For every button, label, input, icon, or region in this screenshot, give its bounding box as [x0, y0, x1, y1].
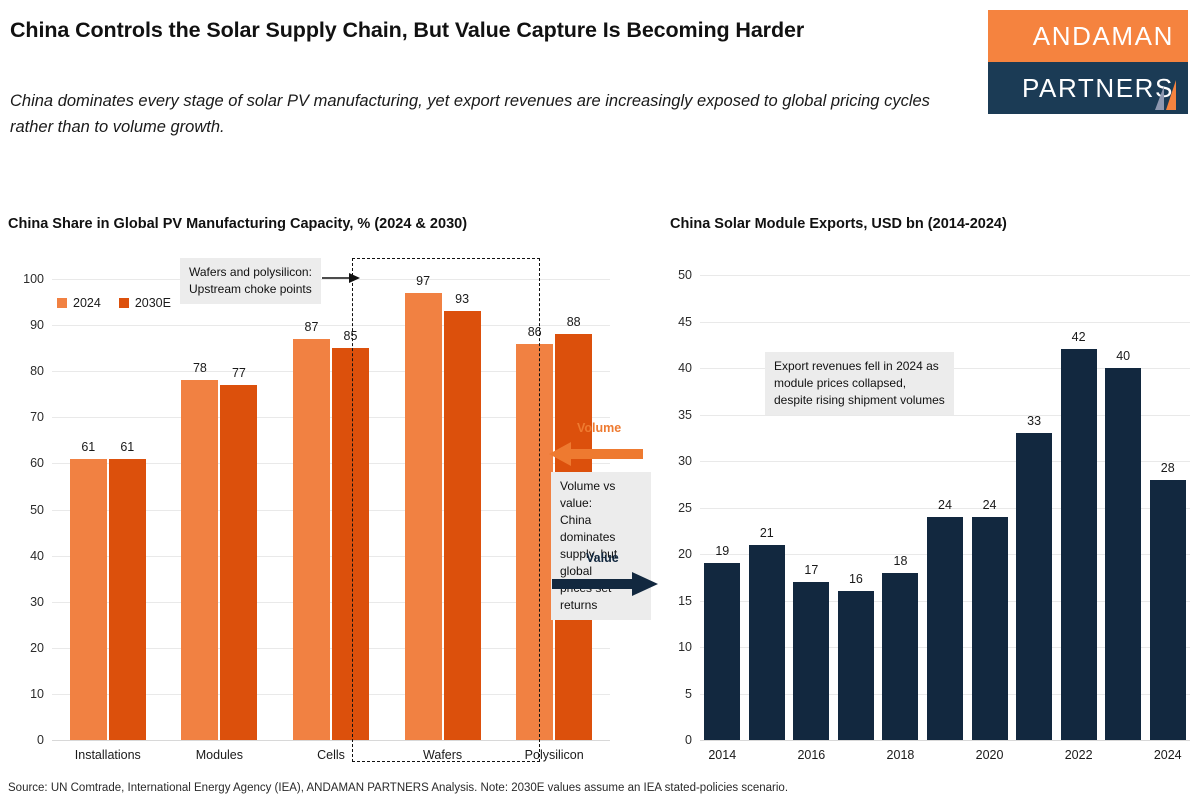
arrow-to-wafers-icon	[322, 272, 360, 284]
bar[interactable]	[220, 385, 257, 740]
bar[interactable]	[838, 591, 874, 740]
andaman-partners-logo: ANDAMAN PARTNERS	[988, 10, 1188, 114]
bar[interactable]	[793, 582, 829, 740]
volume-arrow-group: Volume	[549, 421, 643, 467]
bar-value-label: 28	[1161, 461, 1175, 475]
bar-value-label: 17	[804, 563, 818, 577]
callout-wafers-polysilicon: Wafers and polysilicon: Upstream choke p…	[180, 258, 321, 304]
y-axis-tick: 50	[30, 503, 44, 517]
slide-canvas: China Controls the Solar Supply Chain, B…	[0, 0, 1200, 800]
right-chart-plot-area: 0510152025303540455019201421172016161820…	[700, 275, 1190, 740]
y-axis-tick: 45	[678, 315, 692, 329]
bar[interactable]	[704, 563, 740, 740]
volume-arrow-icon	[549, 441, 643, 467]
bar[interactable]	[1061, 349, 1097, 740]
bar-value-label: 21	[760, 526, 774, 540]
legend-label-2030e: 2030E	[135, 296, 171, 310]
volume-arrow-label: Volume	[577, 421, 621, 435]
bar-value-label: 61	[81, 440, 95, 454]
y-axis-tick: 30	[678, 454, 692, 468]
x-axis-tick: 2024	[1154, 748, 1182, 762]
gridline	[700, 275, 1190, 276]
bar-value-label: 77	[232, 366, 246, 380]
bar[interactable]	[972, 517, 1008, 740]
legend-swatch-2030e	[119, 298, 129, 308]
callout-volume-vs-value: Volume vs value: China dominates supply,…	[551, 472, 651, 620]
x-axis-tick: 2018	[887, 748, 915, 762]
y-axis-tick: 25	[678, 501, 692, 515]
logo-triangle-orange-icon	[1166, 80, 1176, 110]
bar[interactable]	[1016, 433, 1052, 740]
y-axis-tick: 80	[30, 364, 44, 378]
bar[interactable]	[1150, 480, 1186, 740]
x-axis-tick: 2022	[1065, 748, 1093, 762]
bar[interactable]	[1105, 368, 1141, 740]
left-chart-title: China Share in Global PV Manufacturing C…	[8, 216, 467, 232]
page-subtitle: China dominates every stage of solar PV …	[10, 88, 940, 140]
callout-export-revenues: Export revenues fell in 2024 as module p…	[765, 352, 954, 415]
x-axis-tick: 2020	[976, 748, 1004, 762]
bar[interactable]	[882, 573, 918, 740]
bar[interactable]	[70, 459, 107, 740]
y-axis-tick: 40	[30, 549, 44, 563]
x-axis-tick: Modules	[196, 748, 243, 762]
gridline	[700, 740, 1190, 741]
logo-word-andaman: ANDAMAN	[1033, 21, 1174, 52]
y-axis-tick: 20	[678, 547, 692, 561]
bar-value-label: 19	[715, 544, 729, 558]
bar[interactable]	[181, 380, 218, 740]
bar-value-label: 16	[849, 572, 863, 586]
y-axis-tick: 35	[678, 408, 692, 422]
bar-value-label: 87	[305, 320, 319, 334]
bar-value-label: 33	[1027, 414, 1041, 428]
x-axis-tick: 2014	[708, 748, 736, 762]
y-axis-tick: 40	[678, 361, 692, 375]
y-axis-tick: 90	[30, 318, 44, 332]
legend-swatch-2024	[57, 298, 67, 308]
bar[interactable]	[293, 339, 330, 740]
y-axis-tick: 30	[30, 595, 44, 609]
bar-value-label: 24	[938, 498, 952, 512]
y-axis-tick: 10	[678, 640, 692, 654]
y-axis-tick: 5	[685, 687, 692, 701]
y-axis-tick: 0	[685, 733, 692, 747]
bar[interactable]	[749, 545, 785, 740]
x-axis-tick: Cells	[317, 748, 345, 762]
bar[interactable]	[927, 517, 963, 740]
y-axis-tick: 50	[678, 268, 692, 282]
y-axis-tick: 60	[30, 456, 44, 470]
y-axis-tick: 0	[37, 733, 44, 747]
source-note: Source: UN Comtrade, International Energ…	[8, 782, 788, 794]
value-arrow-icon	[552, 571, 658, 597]
value-arrow-group: Value	[552, 551, 662, 597]
bar-value-label: 24	[983, 498, 997, 512]
bar-value-label: 42	[1072, 330, 1086, 344]
legend-item-2030e: 2030E	[119, 296, 171, 310]
logo-word-partners: PARTNERS	[1022, 73, 1174, 104]
x-axis-tick: Installations	[75, 748, 141, 762]
left-chart-legend: 2024 2030E	[57, 296, 171, 310]
value-arrow-label: Value	[586, 551, 619, 565]
y-axis-tick: 10	[30, 687, 44, 701]
logo-triangle-grey-icon	[1155, 86, 1164, 110]
right-chart-title: China Solar Module Exports, USD bn (2014…	[670, 216, 1007, 232]
y-axis-tick: 70	[30, 410, 44, 424]
y-axis-tick: 100	[23, 272, 44, 286]
gridline	[700, 322, 1190, 323]
bar-value-label: 78	[193, 361, 207, 375]
bar[interactable]	[109, 459, 146, 740]
y-axis-tick: 15	[678, 594, 692, 608]
y-axis-tick: 20	[30, 641, 44, 655]
upstream-highlight-box	[352, 258, 540, 762]
bar-value-label: 88	[567, 315, 581, 329]
bar-value-label: 40	[1116, 349, 1130, 363]
x-axis-tick: 2016	[797, 748, 825, 762]
legend-label-2024: 2024	[73, 296, 101, 310]
bar-value-label: 61	[120, 440, 134, 454]
legend-item-2024: 2024	[57, 296, 101, 310]
page-title: China Controls the Solar Supply Chain, B…	[10, 18, 960, 43]
bar-value-label: 18	[894, 554, 908, 568]
